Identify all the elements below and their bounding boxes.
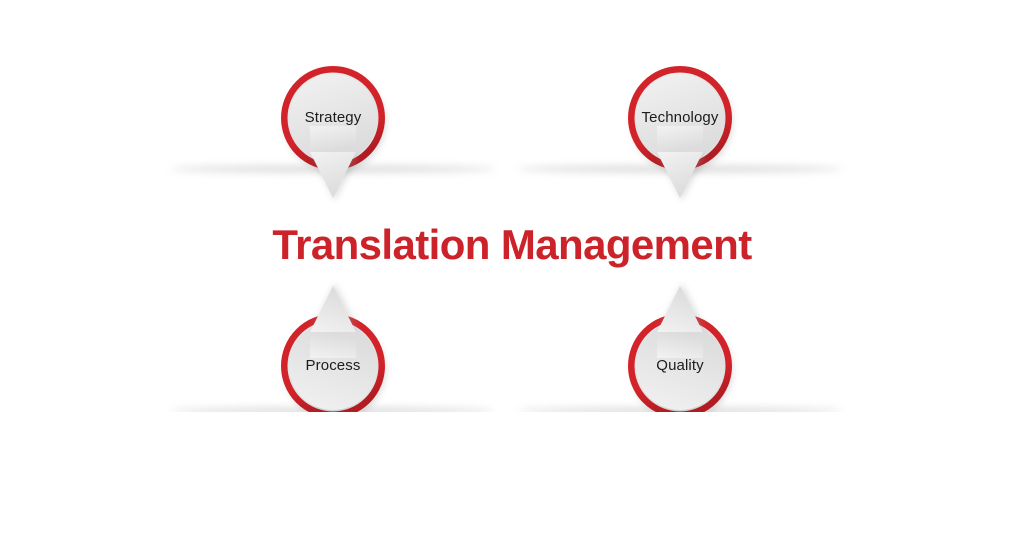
pin-tail (310, 152, 356, 198)
pin-label-strategy: Strategy (253, 109, 413, 126)
ground-clip (510, 412, 850, 472)
pin-node-technology[interactable]: Technology (600, 38, 760, 198)
ground-clip (163, 412, 503, 472)
pin-tail (310, 286, 356, 332)
pin-label-technology: Technology (600, 109, 760, 126)
pin-label-quality: Quality (600, 357, 760, 374)
diagram-canvas: StrategyTechnologyProcessQuality Transla… (0, 0, 1024, 538)
pin-label-process: Process (253, 357, 413, 374)
pin-node-strategy[interactable]: Strategy (253, 38, 413, 198)
page-title: Translation Management (0, 221, 1024, 269)
pin-tail (657, 152, 703, 198)
pin-tail (657, 286, 703, 332)
